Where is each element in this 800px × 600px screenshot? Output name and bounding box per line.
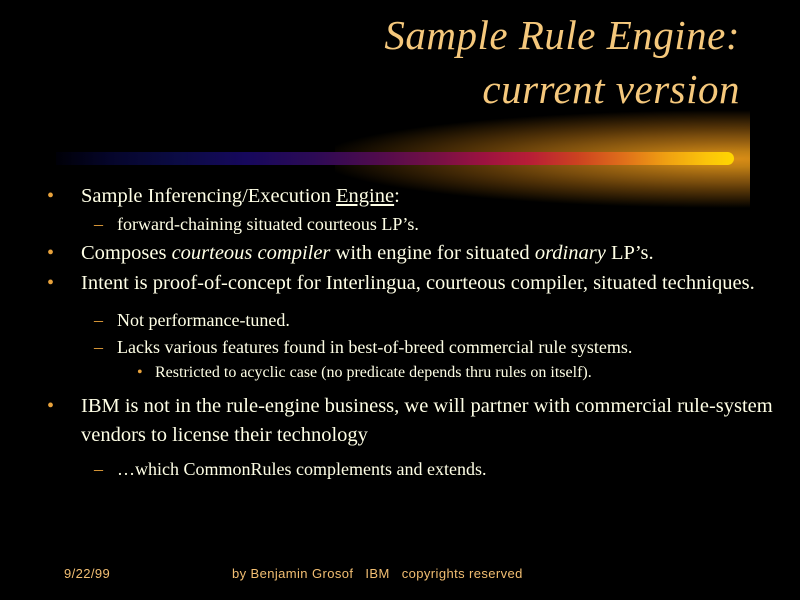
bullet-spacer — [0, 299, 800, 308]
plain-text: with engine for situated — [330, 242, 534, 264]
footer-credit: by Benjamin Grosof IBM copyrights reserv… — [232, 566, 523, 581]
bullet-item-level-2: –Not performance-tuned. — [0, 308, 800, 334]
bullet-item-level-3: •Restricted to acyclic case (no predicat… — [0, 362, 800, 385]
bullet-text: Sample Inferencing/Execution Engine: — [81, 182, 800, 211]
slide-body-bullet-list: •Sample Inferencing/Execution Engine:–fo… — [0, 182, 800, 484]
slide-title-line-1: Sample Rule Engine: — [60, 8, 740, 62]
bullet-text: IBM is not in the rule-engine business, … — [81, 392, 800, 450]
plain-text: Composes — [81, 242, 172, 264]
bullet-marker-icon: • — [47, 269, 81, 297]
plain-text: Restricted to acyclic case (no predicate… — [155, 364, 592, 381]
emphasis-text: courteous compiler — [172, 242, 331, 264]
slide-footer: 9/22/99 by Benjamin Grosof IBM copyright… — [0, 564, 800, 588]
bullet-text: Not performance-tuned. — [117, 308, 800, 334]
bullet-marker-icon: • — [137, 362, 155, 385]
bullet-item-level-1: •Intent is proof-of-concept for Interlin… — [0, 269, 800, 298]
bullet-text: Composes courteous compiler with engine … — [81, 239, 800, 268]
decorative-gradient-bar — [56, 152, 734, 165]
bullet-marker-icon: • — [47, 182, 81, 210]
bullet-text: Restricted to acyclic case (no predicate… — [155, 362, 800, 385]
bullet-item-level-2: –…which CommonRules complements and exte… — [0, 457, 800, 483]
plain-text: Lacks various features found in best-of-… — [117, 337, 632, 357]
bullet-item-level-1: •Composes courteous compiler with engine… — [0, 239, 800, 268]
bullet-marker-icon: – — [94, 457, 117, 483]
plain-text: forward-chaining situated courteous LP’s… — [117, 214, 419, 234]
bullet-marker-icon: – — [94, 308, 117, 334]
footer-date: 9/22/99 — [64, 566, 110, 581]
slide-title: Sample Rule Engine: current version — [60, 8, 740, 116]
underlined-text: Engine — [336, 185, 394, 207]
bullet-item-level-2: –forward-chaining situated courteous LP’… — [0, 212, 800, 238]
bullet-marker-icon: • — [47, 392, 81, 420]
bullet-marker-icon: • — [47, 239, 81, 267]
plain-text: IBM is not in the rule-engine business, … — [81, 395, 773, 446]
plain-text: : — [394, 185, 400, 207]
bullet-text: forward-chaining situated courteous LP’s… — [117, 212, 800, 238]
slide-title-line-2: current version — [60, 62, 740, 116]
plain-text: LP’s. — [606, 242, 654, 264]
bullet-item-level-1: •Sample Inferencing/Execution Engine: — [0, 182, 800, 211]
plain-text: …which CommonRules complements and exten… — [117, 459, 486, 479]
plain-text: Sample Inferencing/Execution — [81, 185, 336, 207]
bullet-marker-icon: – — [94, 335, 117, 361]
presentation-slide: Sample Rule Engine: current version •Sam… — [0, 0, 800, 600]
plain-text: Not performance-tuned. — [117, 310, 290, 330]
bullet-item-level-2: –Lacks various features found in best-of… — [0, 335, 800, 361]
plain-text: Intent is proof-of-concept for Interling… — [81, 272, 755, 294]
emphasis-text: ordinary — [535, 242, 606, 264]
bullet-text: Intent is proof-of-concept for Interling… — [81, 269, 800, 298]
bullet-text: …which CommonRules complements and exten… — [117, 457, 800, 483]
bullet-marker-icon: – — [94, 212, 117, 238]
bullet-item-level-1: •IBM is not in the rule-engine business,… — [0, 392, 800, 450]
bullet-text: Lacks various features found in best-of-… — [117, 335, 800, 361]
